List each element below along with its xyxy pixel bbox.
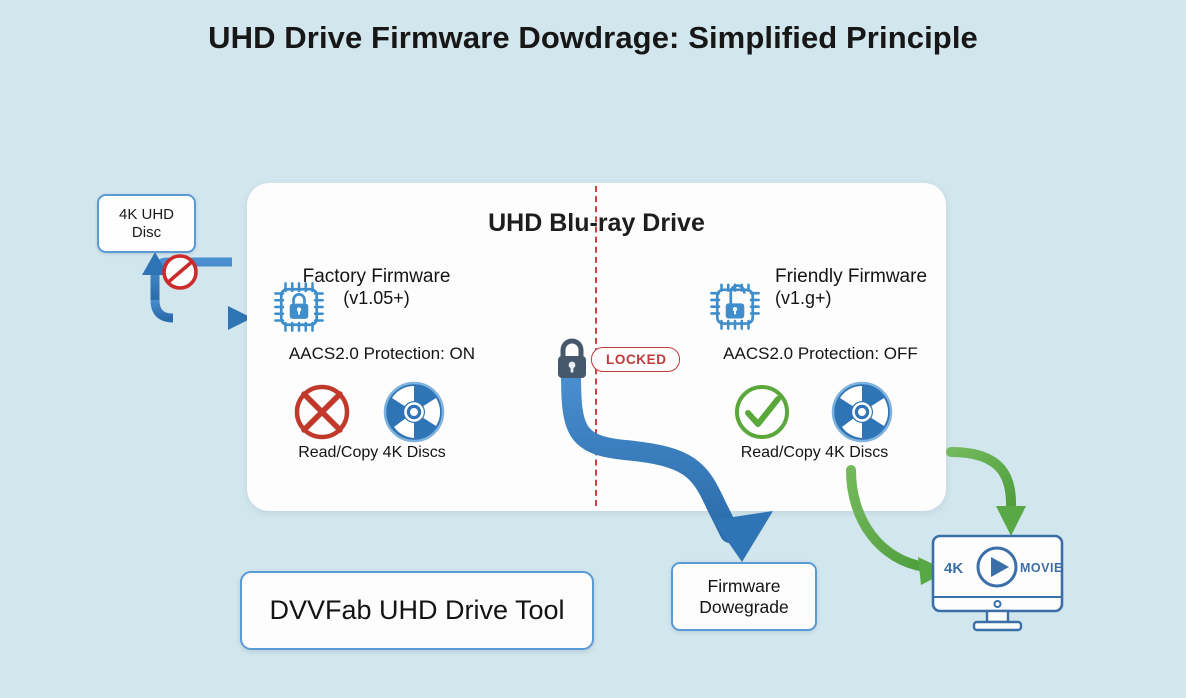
firmware-downgrade-box[interactable]: Firmware Dowegrade <box>671 562 817 631</box>
card-heading: UHD Blu-ray Drive <box>247 209 946 238</box>
firmware-downgrade-line1: Firmware <box>708 576 781 596</box>
right-protection-status: AACS2.0 Protection: OFF <box>718 344 923 364</box>
uhd-disc-box[interactable]: 4K UHD Disc <box>97 194 196 253</box>
left-firmware-version: (v1.05+) <box>289 288 464 309</box>
padlock-closed-icon <box>552 337 592 381</box>
locked-badge-label: LOCKED <box>606 352 667 367</box>
monitor-4k-label: 4K <box>944 560 963 577</box>
firmware-downgrade-line2: Dowegrade <box>699 597 789 617</box>
blu-ray-disc-icon <box>830 380 894 444</box>
left-capability-label: Read/Copy 4K Discs <box>282 444 462 462</box>
locked-badge: LOCKED <box>591 347 680 372</box>
uhd-disc-line1: 4K UHD <box>119 206 174 223</box>
blu-ray-disc-icon <box>382 380 446 444</box>
green-check-circle-icon <box>732 382 792 442</box>
chip-unlocked-icon <box>708 278 762 332</box>
right-firmware-text: Friendly Firmware (v1.g+) <box>775 266 950 309</box>
monitor-movie-label: MOVIE <box>1020 561 1063 575</box>
left-firmware-name: Factory Firmware <box>289 266 464 288</box>
right-capability-label: Read/Copy 4K Discs <box>722 444 907 462</box>
diagram-canvas: UHD Drive Firmware Dowdrage: Simplified … <box>0 0 1186 698</box>
left-firmware-text: Factory Firmware (v1.05+) <box>289 266 464 309</box>
monitor-icon: 4K MOVIE <box>930 533 1065 633</box>
no-entry-icon <box>160 252 200 292</box>
dvdfab-tool-label: DVVFab UHD Drive Tool <box>269 595 564 626</box>
right-firmware-version: (v1.g+) <box>775 288 950 309</box>
dvdfab-tool-box[interactable]: DVVFab UHD Drive Tool <box>240 571 594 650</box>
uhd-disc-box-text: 4K UHD Disc <box>119 206 174 241</box>
uhd-disc-line2: Disc <box>132 224 161 241</box>
firmware-downgrade-text: Firmware Dowegrade <box>699 576 789 618</box>
red-cross-circle-icon <box>292 382 352 442</box>
left-protection-status: AACS2.0 Protection: ON <box>282 344 482 364</box>
right-firmware-name: Friendly Firmware <box>775 266 950 288</box>
